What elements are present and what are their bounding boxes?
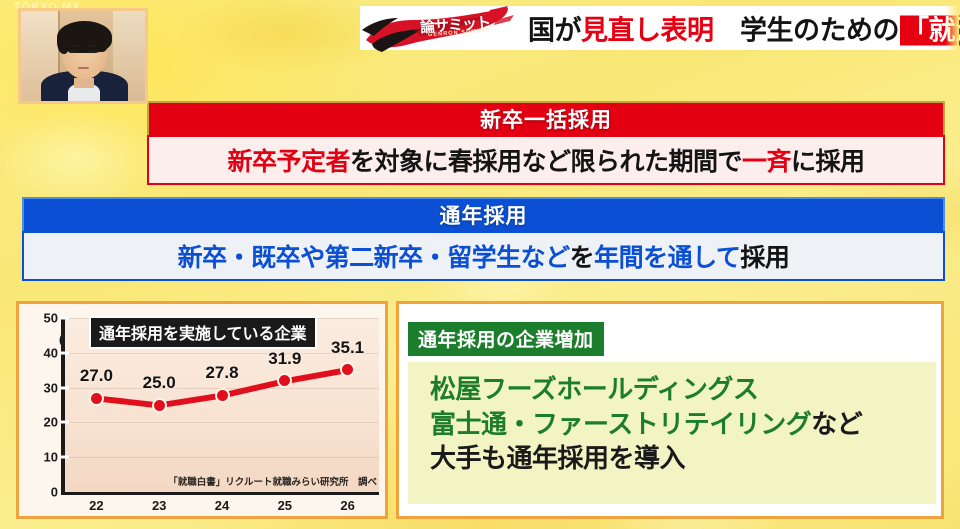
- chart-y-tick-label: 40: [44, 345, 58, 360]
- chart-data-point: [215, 388, 230, 403]
- info-panel-line-text: 松屋フーズホールディングス: [430, 374, 758, 404]
- chart-y-tick-label: 20: [44, 415, 58, 430]
- presenter-hair-right: [97, 31, 109, 53]
- page-title-segment-1: 見直し表明: [581, 16, 714, 46]
- chart-title: 通年採用を実施している企業: [89, 316, 317, 349]
- tv-graphic-stage: TOKYO MX 国が見直し表明 学生のための「就活ルール」とは 論サミット G…: [0, 0, 960, 529]
- chart-x-tick-label: 23: [152, 498, 166, 513]
- chart-x-tick-label: 26: [340, 498, 354, 513]
- presenter-video-inset: [18, 8, 148, 104]
- presenter-eye-left: [69, 50, 78, 53]
- chart-y-tick-label: 30: [44, 380, 58, 395]
- banner-body: 新卒・既卒や第二新卒・留学生などを年間を通して採用: [22, 231, 945, 281]
- info-panel-line-text: 大手も通年採用を導入: [430, 443, 685, 473]
- banner-body-segment-0: 新卒・既卒や第二新卒・留学生など: [178, 238, 570, 274]
- banner-shinsotsu-ikkatsu: 新卒一括採用 新卒予定者を対象に春採用など限られた期間で一斉に採用: [147, 101, 945, 185]
- presenter-mouth: [78, 67, 89, 69]
- chart-y-tick-label: 50: [44, 311, 58, 326]
- banner-title: 新卒一括採用: [147, 101, 945, 135]
- page-title-segment-0: 国が: [528, 16, 581, 46]
- presenter-eye-right: [88, 50, 97, 53]
- presenter-hair-left: [57, 31, 69, 54]
- chart-y-tick-label: 10: [44, 450, 58, 465]
- banner-body: 新卒予定者を対象に春採用など限られた期間で一斉に採用: [147, 135, 945, 185]
- info-panel-tag: 通年採用の企業増加: [408, 322, 604, 356]
- banner-body-segment-3: に採用: [791, 142, 865, 178]
- program-logo: 論サミット GENRON SUMMIT: [358, 0, 518, 55]
- chart-data-point: [152, 398, 167, 413]
- chart-data-point: [89, 391, 104, 406]
- chart-x-tick-label: 25: [278, 498, 292, 513]
- banner-body-segment-2: 年間を通して: [594, 238, 740, 274]
- page-title: 国が見直し表明 学生のための「就活ルール」とは: [528, 9, 960, 48]
- chart-data-label: 25.0: [143, 373, 176, 393]
- banner-tsuunen-saiyou: 通年採用 新卒・既卒や第二新卒・留学生などを年間を通して採用: [22, 197, 945, 281]
- info-panel-body: 松屋フーズホールディングス富士通・ファーストリテイリングなど大手も通年採用を導入: [408, 362, 936, 504]
- banner-body-segment-1: を対象に春採用など限られた期間で: [350, 142, 742, 178]
- info-panel: 通年採用の企業増加 松屋フーズホールディングス富士通・ファーストリテイリングなど…: [396, 301, 944, 519]
- chart-x-tick-label: 22: [89, 498, 103, 513]
- info-panel-line-suffix: など: [811, 409, 862, 439]
- banner-body-segment-1: を: [570, 238, 595, 274]
- page-title-segment-2: 学生のための: [714, 16, 900, 46]
- banner-title: 通年採用: [22, 197, 945, 231]
- presenter-neck: [74, 78, 94, 89]
- info-panel-line: 松屋フーズホールディングス: [430, 372, 936, 407]
- chart-panel: (%) 通年採用を実施している企業 「就職白書」リクルート就職みらい研究所 調べ…: [16, 301, 388, 519]
- chart-data-label: 27.8: [205, 363, 238, 383]
- chart-x-tick-label: 24: [215, 498, 229, 513]
- banner-body-segment-3: 採用: [740, 238, 789, 274]
- chart-source-note: 「就職白書」リクルート就職みらい研究所 調べ: [168, 474, 377, 488]
- chart-data-label: 31.9: [268, 349, 301, 369]
- chart-y-tick-label: 0: [51, 485, 58, 500]
- info-panel-line: 大手も通年採用を導入: [430, 441, 936, 476]
- page-title-segment-3: 「就活ルール」: [900, 16, 960, 46]
- info-panel-line-text: 富士通・ファーストリテイリング: [430, 409, 811, 439]
- banner-body-segment-2: 一斉: [742, 142, 791, 178]
- info-panel-line: 富士通・ファーストリテイリングなど: [430, 407, 936, 442]
- chart-data-label: 35.1: [331, 338, 364, 358]
- banner-body-segment-0: 新卒予定者: [227, 142, 350, 178]
- chart-data-label: 27.0: [80, 366, 113, 386]
